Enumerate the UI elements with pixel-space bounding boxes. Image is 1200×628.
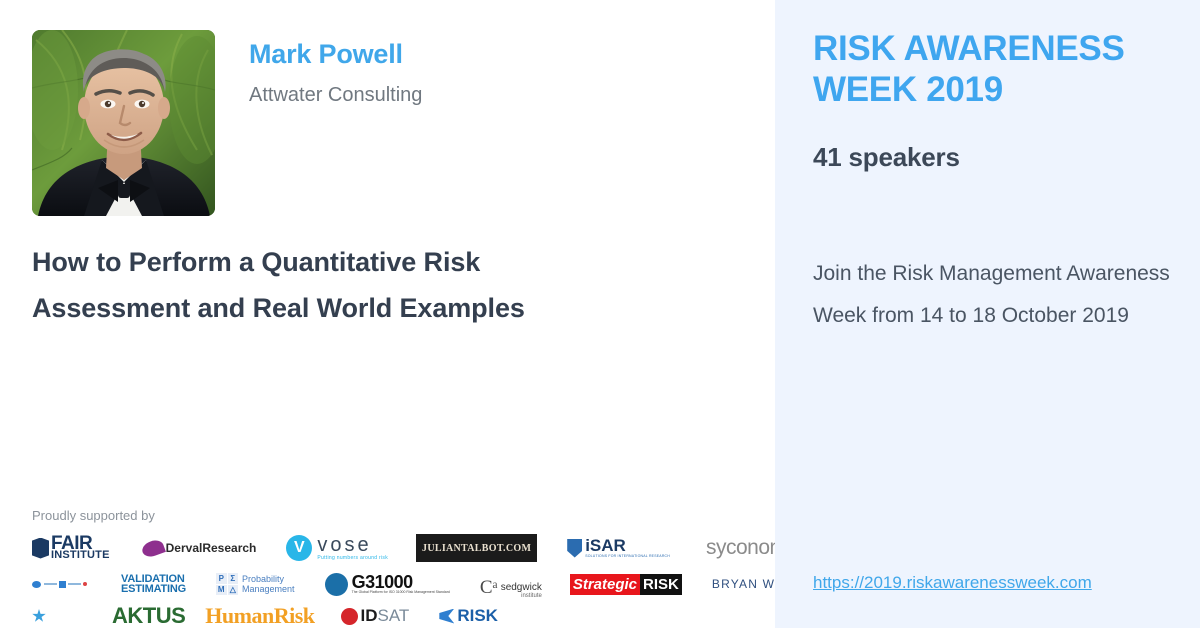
link-icon [44,583,57,585]
sponsor-logo-idsat[interactable]: ID SAT [341,604,410,628]
sponsor-logo-derval-research[interactable]: DervalResearch [142,533,257,563]
event-url-link[interactable]: https://2019.riskawarenessweek.com [813,573,1092,593]
sponsor-logo-subtext: Management [242,584,295,594]
swoosh-icon [142,537,166,559]
sponsor-logo-probability-management[interactable]: PΣM△ Probability Management [216,569,295,599]
vose-v-icon: V [286,535,312,561]
sponsor-logo-vose[interactable]: V vose Putting numbers around risk [286,533,388,563]
sponsors-label: Proudly supported by [32,508,792,523]
talk-title: How to Perform a Quantitative Risk Asses… [32,240,562,332]
sponsor-logo-subtext: INSTITUTE [51,551,110,560]
globe-icon [325,573,348,596]
sponsor-logo-text: Strategic [570,574,640,595]
sponsor-logo-subtext: SOLUTIONS FOR INTERNATIONAL RESEARCH [585,554,670,558]
event-description: Join the Risk Management Awareness Week … [813,253,1185,336]
node-icon [83,582,87,586]
sponsor-logo-human-risk[interactable]: HumanRisk [205,604,314,628]
avatar [32,30,215,216]
speaker-block: Mark Powell Attwater Consulting [32,30,422,216]
sponsor-logo-subtext: ESTIMATING [121,584,186,594]
sponsor-logo-text: ID [361,606,378,626]
event-title: RISK AWARENESS WEEK 2019 [813,28,1183,111]
sponsor-logo-juliantalbot[interactable]: JULIANTALBOT.COM [416,534,537,562]
sponsor-logo-subtext: SAT [378,606,410,626]
sponsor-logo-subtext: RISK [640,574,682,595]
left-content-column: Mark Powell Attwater Consulting How to P… [0,0,775,628]
event-info-panel: RISK AWARENESS WEEK 2019 41 speakers Joi… [775,0,1200,628]
node-icon [32,581,41,588]
sponsor-logo-row: FAIR INSTITUTE DervalResearch V vose Put… [32,532,792,564]
sponsor-logo-network[interactable] [32,569,87,599]
node-icon [59,581,66,588]
sponsor-logo-strategic-risk[interactable]: Strategic RISK [570,574,682,595]
link-icon [68,583,81,585]
sponsor-logo-text: Probability [242,574,295,584]
matrix-icon: PΣM△ [216,573,238,595]
fair-shield-icon [32,538,49,559]
sponsor-logo-subtext: institute [501,593,542,599]
sponsor-logo-text: vose [317,535,388,555]
shield-icon [567,539,582,558]
sponsor-logo-validation-estimating[interactable]: VALIDATION ESTIMATING [121,569,186,599]
sponsor-logo-text: sedgwick [501,582,542,593]
sponsor-logo-aktus[interactable]: AKTUS [112,604,185,628]
sponsor-logo-fair-institute[interactable]: FAIR INSTITUTE [32,533,110,563]
idsat-circle-icon [341,608,358,625]
speaker-count: 41 speakers [813,142,960,173]
sponsor-logo-text: JULIANTALBOT.COM [422,543,531,554]
sedgwick-mark-icon: Сᵃ [480,577,498,599]
sponsor-logo-star[interactable] [32,604,46,628]
sponsor-logo-subtext: The Global Platform for ISO 31000 Risk M… [352,590,450,594]
speaker-portrait-image [32,30,215,216]
speaker-meta: Mark Powell Attwater Consulting [249,30,422,107]
sponsor-logo-isar[interactable]: iSAR SOLUTIONS FOR INTERNATIONAL RESEARC… [567,533,670,563]
sponsor-logo-row: AKTUS HumanRisk ID SAT RISK [32,604,792,628]
sponsor-logo-text: RISK [457,606,498,626]
speaker-name: Mark Powell [249,38,422,70]
sponsor-logo-row: VALIDATION ESTIMATING PΣM△ Probability M… [32,568,792,600]
sponsors-section: Proudly supported by FAIR INSTITUTE Derv… [32,508,792,628]
speaker-promo-card: Mark Powell Attwater Consulting How to P… [0,0,1200,628]
sponsor-logo-sedgwick-institute[interactable]: Сᵃ sedgwick institute [480,569,542,599]
speaker-company: Attwater Consulting [249,83,422,107]
sponsor-logo-subtext: Putting numbers around risk [317,555,388,561]
sponsor-logo-text: AKTUS [112,604,185,628]
sponsor-logo-text: G31000 [352,574,450,590]
risk-mark-icon [439,609,454,624]
star-icon [32,609,46,623]
sponsor-logo-subtext: Research [202,541,256,555]
sponsor-logo-text: iSAR [585,538,670,553]
sponsor-logo-text: HumanRisk [205,604,314,628]
sponsor-logo-g31000[interactable]: G31000 The Global Platform for ISO 31000… [325,569,450,599]
sponsor-logo-risk[interactable]: RISK [439,604,498,628]
sponsor-logo-text: Derval [166,541,203,555]
